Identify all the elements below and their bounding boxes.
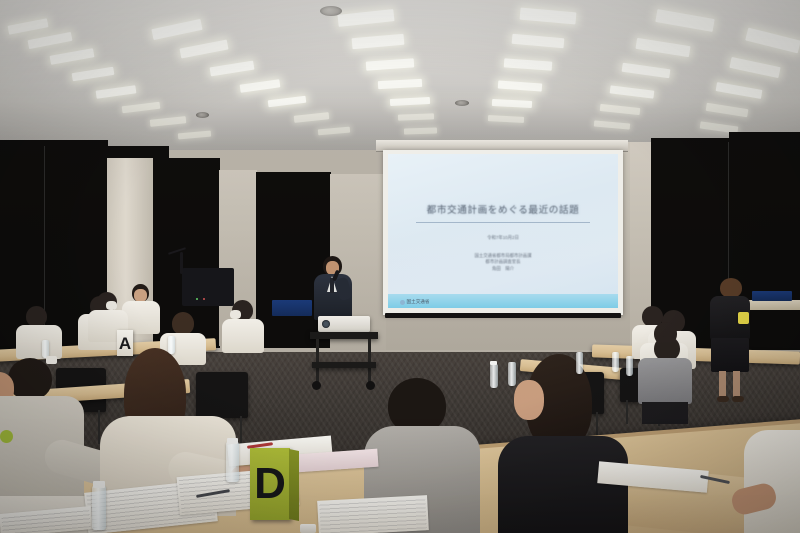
table-placard-a: A [117,330,133,356]
torso [744,430,800,533]
head [26,306,47,327]
slide-title-rule [416,222,591,223]
shoe [717,396,729,402]
slide-org-block: 国土交通省都市局都市計画課 都市計画調査室長 角田 陽介 [388,253,618,273]
bottle-cap [227,438,238,444]
torso [498,436,628,533]
water-bottle [576,352,583,374]
leg [719,371,726,397]
side-table-blue-item [272,300,312,316]
attendee-left-4 [222,300,264,352]
attendee-front-right [504,354,626,533]
head [8,358,52,400]
slide-logo: 国土交通省 [400,299,430,305]
attendee-far-right-edge [744,430,800,533]
paper-text-lines [1,508,90,533]
placard-a-label: A [119,335,131,352]
table-placard-d: D [250,448,290,520]
face [514,380,544,420]
equipment-led-icon [196,298,198,300]
slide-title: 都市交通計画をめぐる最近の話題 [388,202,618,216]
water-bottle [626,356,633,376]
attendee-right-gray [636,336,692,422]
badge-icon [0,430,13,443]
trousers [642,402,688,424]
screen-bottom-bar [385,313,621,318]
projection-screen: 都市交通計画をめぐる最近の話題 令和7年10月2日 国土交通省都市局都市計画課 … [383,150,623,315]
paper-cup [46,356,57,364]
torso [638,358,692,404]
leg [733,371,740,397]
water-bottle [508,362,516,386]
skirt [711,338,749,372]
table-placard-d-side [289,449,299,521]
water-bottle [168,336,175,354]
paper-text-lines [319,497,426,533]
placard-d-label: D [254,462,286,506]
projector-cart-shelf [312,362,376,368]
projector-cart-top [310,332,378,339]
bottle-cap [490,361,497,365]
torso [16,325,62,359]
water-bottle [226,442,239,482]
presenter [310,256,356,320]
face-mask [106,301,117,310]
chair-leg [626,400,628,424]
slide-logo-label: 国土交通省 [407,299,430,305]
head [720,278,742,298]
bottle-cap [93,481,105,488]
paper-cup [300,524,316,533]
projected-slide: 都市交通計画をめぐる最近の話題 令和7年10月2日 国土交通省都市局都市計画課 … [388,154,618,308]
water-bottle [490,364,498,388]
handout-papers [317,495,429,533]
head [172,312,194,335]
staff-standing-right [708,278,752,406]
photo-scene: 都市交通計画をめぐる最近の話題 令和7年10月2日 国土交通省都市局都市計画課 … [0,0,800,533]
slide-org-line3: 角田 陽介 [388,266,618,273]
ministry-logo-icon [400,300,405,305]
face-mask [230,310,241,319]
water-bottle [92,486,106,530]
side-table-right-item [752,291,792,301]
slide-date: 令和7年10月2日 [388,235,618,241]
equipment-led-icon [203,298,205,300]
attendee-left-2 [16,306,62,358]
projector-lens-icon [322,320,330,328]
cart-caster [312,381,321,390]
microphone-stand [180,252,183,274]
shoe [732,396,744,402]
yellow-armband [738,312,749,324]
cart-post [368,339,371,383]
cart-post [316,339,319,383]
water-bottle [612,352,619,372]
